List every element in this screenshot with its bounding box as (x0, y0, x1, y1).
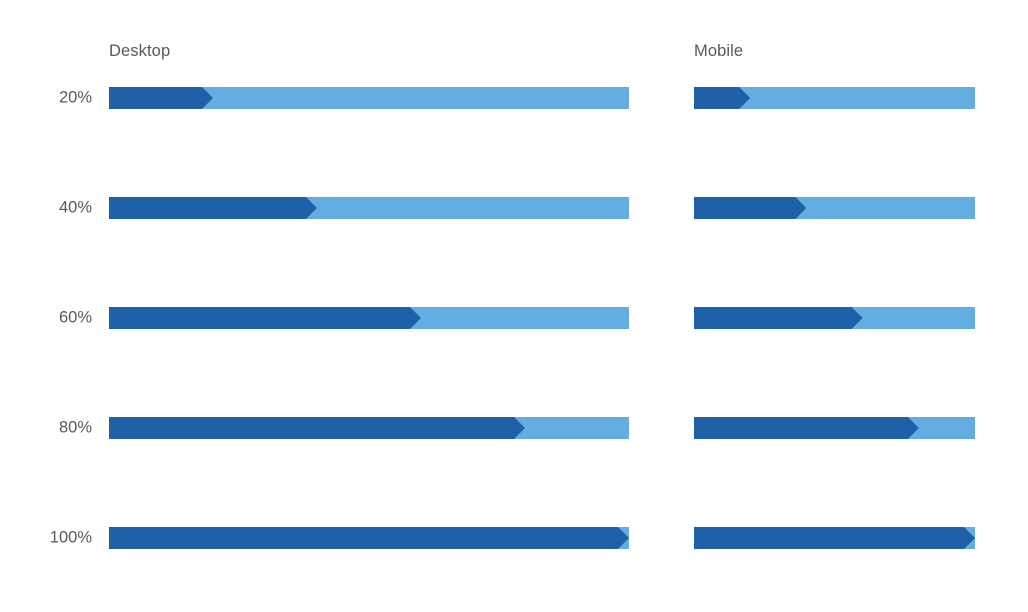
row-label-20: 20% (0, 89, 92, 108)
chart-canvas: DesktopMobile20%40%60%80%100% (0, 0, 1028, 612)
column-header-desktop: Desktop (109, 42, 170, 61)
bar-track (694, 417, 975, 439)
bar-track (109, 197, 629, 219)
row-label-60: 60% (0, 309, 92, 328)
row-label-100: 100% (0, 529, 92, 548)
bar-fill (109, 417, 525, 439)
bar-fill (694, 87, 750, 109)
bar-track (694, 197, 975, 219)
bar-fill (694, 417, 919, 439)
bar-fill (109, 307, 421, 329)
row-label-80: 80% (0, 419, 92, 438)
bar-track (109, 417, 629, 439)
bar-fill (109, 527, 629, 549)
bar-track (694, 307, 975, 329)
bar-fill (109, 197, 317, 219)
bar-track (694, 87, 975, 109)
bar-track (694, 527, 975, 549)
row-label-40: 40% (0, 199, 92, 218)
column-header-mobile: Mobile (694, 42, 743, 61)
bar-fill (109, 87, 213, 109)
bar-fill (694, 307, 863, 329)
bar-track (109, 527, 629, 549)
bar-track (109, 87, 629, 109)
bar-track (109, 307, 629, 329)
bar-fill (694, 527, 975, 549)
bar-fill (694, 197, 806, 219)
